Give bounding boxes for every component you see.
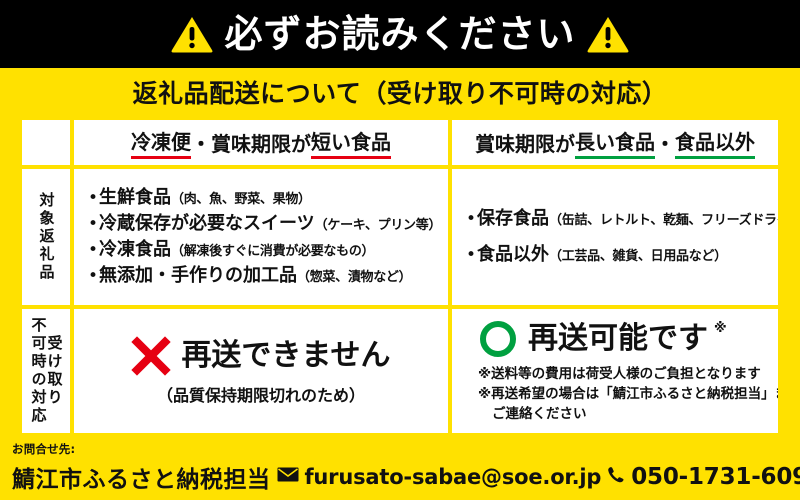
action-headline-text: 再送可能です <box>528 324 708 354</box>
header-bar: 必ずお読みください <box>0 0 800 68</box>
row-label-text-col2: 不可時の対応 <box>31 317 46 425</box>
list-item-main: 生鮮食品 <box>99 185 171 211</box>
row-label-text-col1: 受け取り <box>47 335 62 407</box>
bullet-dot-icon: • <box>88 268 98 285</box>
list-item: • 冷蔵保存が必要なスイーツ （ケーキ、プリン等） <box>88 211 444 237</box>
table-row: 不可時の対応 受け取り 再送できません （品質 <box>22 309 778 433</box>
list-item: • 食品以外 （工芸品、雑貨、日用品など） <box>466 242 774 268</box>
footer-contact: お問合せ先: 鯖江市ふるさと納税担当 furusato-sabae@soe.or… <box>0 437 800 500</box>
colhead-left-seg1: 冷凍便 <box>131 126 191 159</box>
footer-phone[interactable]: 050-1731-6099 <box>631 464 800 490</box>
cross-mark-icon <box>131 336 171 376</box>
footer-organization: 鯖江市ふるさと納税担当 <box>12 460 271 494</box>
header-title: 必ずお読みください <box>224 15 575 53</box>
colhead-left-seg3: 短い食品 <box>311 126 391 159</box>
list-item-main: 食品以外 <box>477 242 549 268</box>
list-item: • 生鮮食品 （肉、魚、野菜、果物） <box>88 185 444 211</box>
table-row: 対象返礼品 • 生鮮食品 （肉、魚、野菜、果物） • 冷蔵保存が必要なスイーツ … <box>22 169 778 305</box>
subtitle-text: 返礼品配送について（受け取り不可時の対応） <box>133 74 668 110</box>
circle-mark-icon <box>478 319 518 359</box>
row-label-target-gifts: 対象返礼品 <box>22 169 70 305</box>
list-item-sub: （解凍後すぐに消費が必要なもの） <box>171 243 374 262</box>
list-item-sub: （惣菜、漬物など） <box>297 269 411 288</box>
footer-label: お問合せ先: <box>12 443 800 457</box>
colhead-right-seg2: 長い食品 <box>575 126 655 159</box>
list-item-main: 冷凍食品 <box>99 237 171 263</box>
warning-triangle-icon <box>586 14 630 54</box>
action-headline-superscript: ※ <box>714 321 727 336</box>
column-header-short-shelf-life: 冷凍便・賞味期限が短い食品 <box>74 120 448 165</box>
warning-triangle-icon <box>170 14 214 54</box>
bullet-dot-icon: • <box>88 190 98 207</box>
action-note-line: ご連絡ください <box>478 405 778 423</box>
column-header-long-shelf-life: 賞味期限が長い食品・食品以外 <box>452 120 778 165</box>
list-item-main: 無添加・手作りの加工品 <box>99 263 297 289</box>
envelope-icon <box>277 467 299 486</box>
list-item: • 冷凍食品 （解凍後すぐに消費が必要なもの） <box>88 237 444 263</box>
list-item-sub: （ケーキ、プリン等） <box>315 217 441 236</box>
row-label-undeliverable-response: 不可時の対応 受け取り <box>22 309 70 433</box>
telephone-icon <box>607 466 625 488</box>
list-item-sub: （肉、魚、野菜、果物） <box>171 191 311 210</box>
colhead-right-seg1: 賞味期限が <box>475 128 575 157</box>
action-note-line: ※再送希望の場合は「鯖江市ふるさと納税担当」まで <box>478 385 778 403</box>
table-corner-cell <box>22 120 70 165</box>
list-item-main: 保存食品 <box>477 206 549 232</box>
footer-email[interactable]: furusato-sabae@soe.or.jp <box>305 465 602 489</box>
row-label-text: 対象返礼品 <box>39 192 54 282</box>
items-left-cell: • 生鮮食品 （肉、魚、野菜、果物） • 冷蔵保存が必要なスイーツ （ケーキ、プ… <box>74 169 448 305</box>
action-headline-text: 再送できません <box>181 341 390 371</box>
bullet-dot-icon: • <box>88 242 98 259</box>
list-item-main: 冷蔵保存が必要なスイーツ <box>99 211 315 237</box>
bullet-dot-icon: • <box>466 247 476 264</box>
items-right-cell: • 保存食品 （缶詰、レトルト、乾麺、フリーズドライ） • 食品以外 （工芸品、… <box>452 169 778 305</box>
action-left-cell: 再送できません （品質保持期限切れのため） <box>74 309 448 433</box>
list-item: • 無添加・手作りの加工品 （惣菜、漬物など） <box>88 263 444 289</box>
colhead-right-seg3: ・ <box>655 128 675 157</box>
notice-poster: 必ずお読みください 返礼品配送について（受け取り不可時の対応） 冷凍便・賞味期限… <box>0 0 800 500</box>
colhead-left-seg2: ・賞味期限が <box>191 128 311 157</box>
list-item-sub: （缶詰、レトルト、乾麺、フリーズドライ） <box>549 212 778 231</box>
delivery-policy-table: 冷凍便・賞味期限が短い食品 賞味期限が長い食品・食品以外 対象返礼品 • <box>22 120 778 433</box>
colhead-right-seg4: 食品以外 <box>675 126 755 159</box>
action-note-text: （品質保持期限切れのため） <box>157 382 365 406</box>
table-header-row: 冷凍便・賞味期限が短い食品 賞味期限が長い食品・食品以外 <box>22 120 778 165</box>
action-note-line: ※送料等の費用は荷受人様のご負担となります <box>478 365 778 383</box>
bullet-dot-icon: • <box>466 211 476 228</box>
list-item: • 保存食品 （缶詰、レトルト、乾麺、フリーズドライ） <box>466 206 774 232</box>
subtitle-band: 返礼品配送について（受け取り不可時の対応） <box>0 68 800 116</box>
action-right-cell: 再送可能です ※ ※送料等の費用は荷受人様のご負担となります ※再送希望の場合は… <box>452 309 778 433</box>
list-item-sub: （工芸品、雑貨、日用品など） <box>549 248 727 267</box>
bullet-dot-icon: • <box>88 216 98 233</box>
